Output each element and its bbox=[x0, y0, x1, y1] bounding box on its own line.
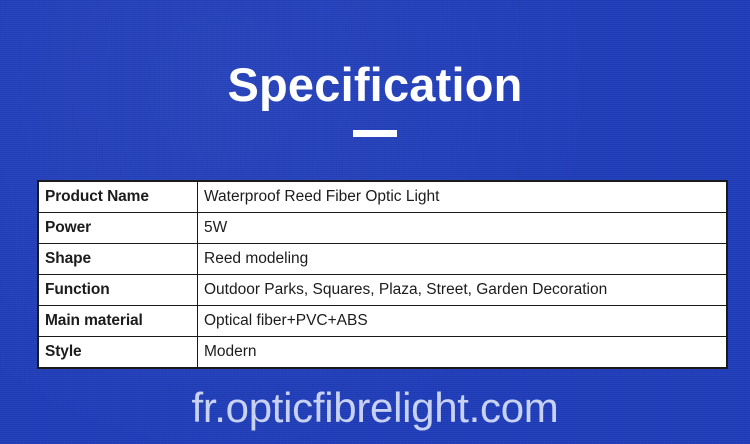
row-value-power: 5W bbox=[198, 213, 727, 244]
table-row: Shape Reed modeling bbox=[39, 244, 727, 275]
row-label-main-material: Main material bbox=[39, 306, 198, 337]
specification-table: Product Name Waterproof Reed Fiber Optic… bbox=[38, 181, 727, 368]
row-value-main-material: Optical fiber+PVC+ABS bbox=[198, 306, 727, 337]
specification-table-body: Product Name Waterproof Reed Fiber Optic… bbox=[39, 182, 727, 368]
table-row: Function Outdoor Parks, Squares, Plaza, … bbox=[39, 275, 727, 306]
title-underline-rule bbox=[353, 130, 397, 137]
row-value-product-name: Waterproof Reed Fiber Optic Light bbox=[198, 182, 727, 213]
page-title: Specification bbox=[0, 58, 750, 112]
row-label-style: Style bbox=[39, 337, 198, 368]
row-label-power: Power bbox=[39, 213, 198, 244]
row-value-function: Outdoor Parks, Squares, Plaza, Street, G… bbox=[198, 275, 727, 306]
table-row: Power 5W bbox=[39, 213, 727, 244]
specification-banner: Specification Product Name Waterproof Re… bbox=[0, 0, 750, 444]
table-row: Style Modern bbox=[39, 337, 727, 368]
row-label-product-name: Product Name bbox=[39, 182, 198, 213]
row-value-shape: Reed modeling bbox=[198, 244, 727, 275]
site-watermark: fr.opticfibrelight.com bbox=[0, 383, 750, 433]
specification-table-container: Product Name Waterproof Reed Fiber Optic… bbox=[38, 181, 712, 361]
row-value-style: Modern bbox=[198, 337, 727, 368]
row-label-function: Function bbox=[39, 275, 198, 306]
table-row: Main material Optical fiber+PVC+ABS bbox=[39, 306, 727, 337]
table-row: Product Name Waterproof Reed Fiber Optic… bbox=[39, 182, 727, 213]
row-label-shape: Shape bbox=[39, 244, 198, 275]
